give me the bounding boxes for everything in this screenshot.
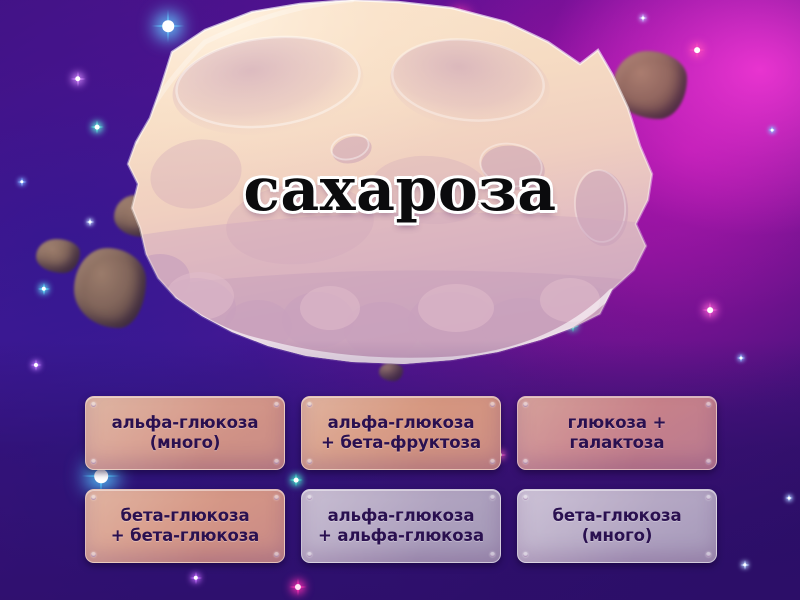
rivet-tl-icon bbox=[523, 495, 528, 500]
answer-option-2[interactable]: альфа-глюкоза + бета-фруктоза bbox=[301, 396, 501, 470]
answer-option-label: альфа-глюкоза (много) bbox=[112, 413, 259, 453]
rivet-tr-icon bbox=[274, 402, 279, 407]
answer-option-5[interactable]: альфа-глюкоза + альфа-глюкоза bbox=[301, 489, 501, 563]
answer-option-1[interactable]: альфа-глюкоза (много) bbox=[85, 396, 285, 470]
rivet-br-icon bbox=[706, 552, 711, 557]
quiz-screen: сахароза альфа-глюкоза (много)альфа-глюк… bbox=[0, 0, 800, 600]
answer-option-label: бета-глюкоза + бета-глюкоза bbox=[111, 506, 259, 546]
rivet-bl-icon bbox=[307, 552, 312, 557]
rivet-bl-icon bbox=[91, 459, 96, 464]
rivet-tr-icon bbox=[490, 402, 495, 407]
answer-option-label: альфа-глюкоза + альфа-глюкоза bbox=[318, 506, 484, 546]
rivet-tl-icon bbox=[91, 402, 96, 407]
rivet-tr-icon bbox=[706, 402, 711, 407]
rivet-tl-icon bbox=[523, 402, 528, 407]
answer-option-6[interactable]: бета-глюкоза (много) bbox=[517, 489, 717, 563]
answer-option-3[interactable]: глюкоза + галактоза bbox=[517, 396, 717, 470]
star-violet-bot-left-icon bbox=[190, 572, 203, 585]
star-white-bot-right-icon bbox=[740, 560, 750, 570]
answer-options-grid: альфа-глюкоза (много)альфа-глюкоза + бет… bbox=[85, 396, 717, 563]
star-magenta-bottom-icon bbox=[289, 578, 307, 596]
star-white-bot-far-r-icon bbox=[785, 494, 793, 502]
rivet-tr-icon bbox=[490, 495, 495, 500]
rivet-br-icon bbox=[490, 459, 495, 464]
rivet-bl-icon bbox=[307, 459, 312, 464]
answer-option-label: альфа-глюкоза + бета-фруктоза bbox=[321, 413, 481, 453]
rivet-br-icon bbox=[490, 552, 495, 557]
rivet-tr-icon bbox=[274, 495, 279, 500]
answer-option-label: глюкоза + галактоза bbox=[568, 413, 667, 453]
rivet-bl-icon bbox=[91, 552, 96, 557]
rivet-tl-icon bbox=[307, 495, 312, 500]
answer-option-label: бета-глюкоза (много) bbox=[552, 506, 681, 546]
rivet-br-icon bbox=[274, 552, 279, 557]
rivet-tl-icon bbox=[307, 402, 312, 407]
question-word: сахароза bbox=[0, 160, 800, 220]
rivet-br-icon bbox=[274, 459, 279, 464]
rivet-bl-icon bbox=[523, 552, 528, 557]
rivet-tr-icon bbox=[706, 495, 711, 500]
answer-option-4[interactable]: бета-глюкоза + бета-глюкоза bbox=[85, 489, 285, 563]
rivet-bl-icon bbox=[523, 459, 528, 464]
rivet-tl-icon bbox=[91, 495, 96, 500]
rivet-br-icon bbox=[706, 459, 711, 464]
